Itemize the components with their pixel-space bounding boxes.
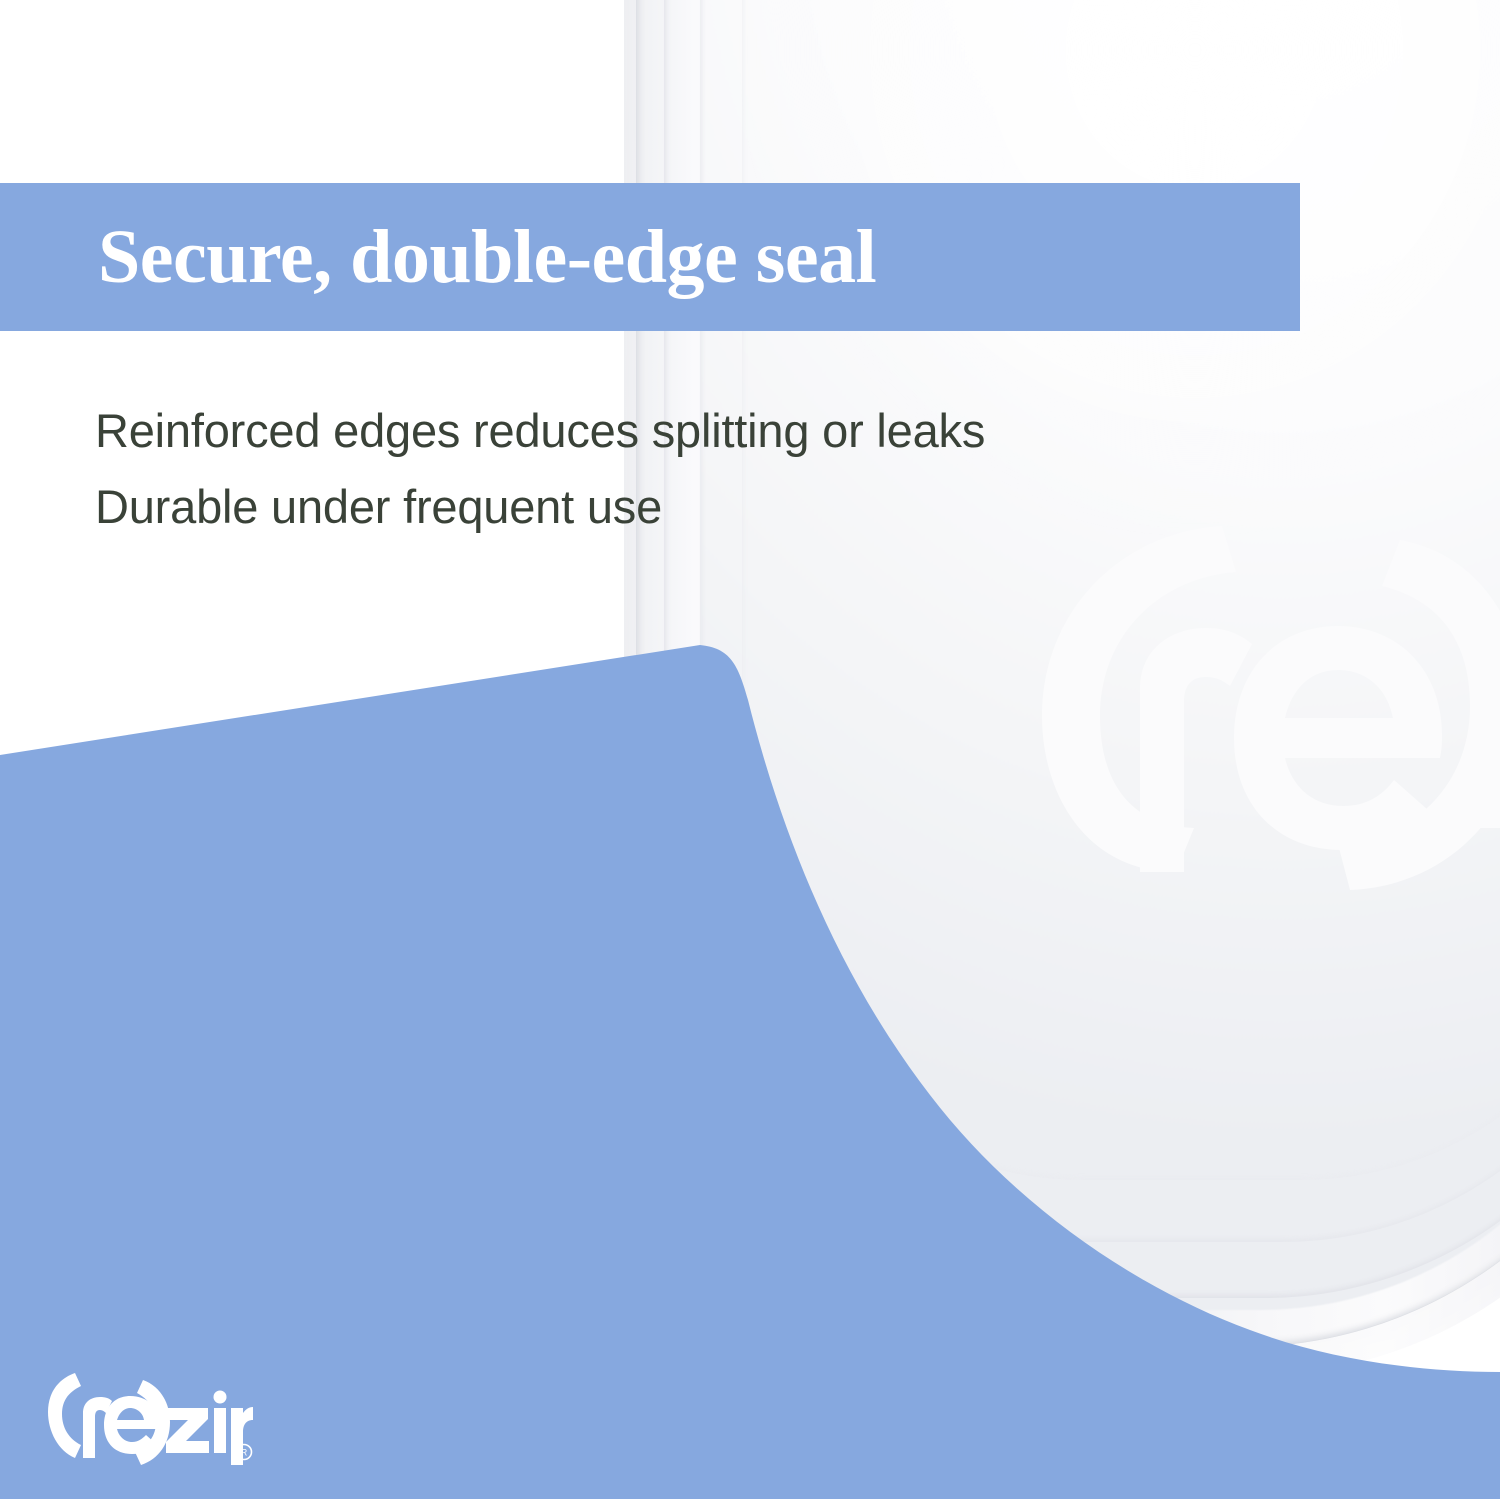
body-copy-block: Reinforced edges reduces splitting or le… <box>95 393 1235 545</box>
logo-letter-z <box>166 1408 209 1453</box>
body-line-2: Durable under frequent use <box>95 469 1235 545</box>
headline-banner: Secure, double-edge seal <box>0 183 1300 331</box>
svg-text:R: R <box>241 1448 248 1458</box>
logo-letter-i-stem <box>214 1408 226 1453</box>
headline-title: Secure, double-edge seal <box>98 219 876 295</box>
logo-open-paren-icon <box>48 1373 81 1458</box>
logo-letter-i-dot <box>214 1391 227 1404</box>
body-line-1: Reinforced edges reduces splitting or le… <box>95 393 1235 469</box>
product-marketing-image: Secure, double-edge seal Reinforced edge… <box>0 0 1500 1499</box>
rezip-brand-logo: R <box>48 1373 253 1465</box>
